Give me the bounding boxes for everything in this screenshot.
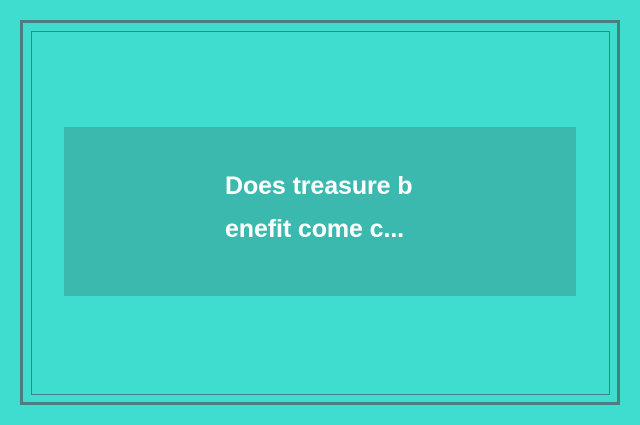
headline-text: Does treasure b enefit come c... bbox=[225, 165, 545, 251]
headline-card: Does treasure b enefit come c... bbox=[64, 127, 576, 296]
image-canvas: Does treasure b enefit come c... bbox=[0, 0, 640, 425]
